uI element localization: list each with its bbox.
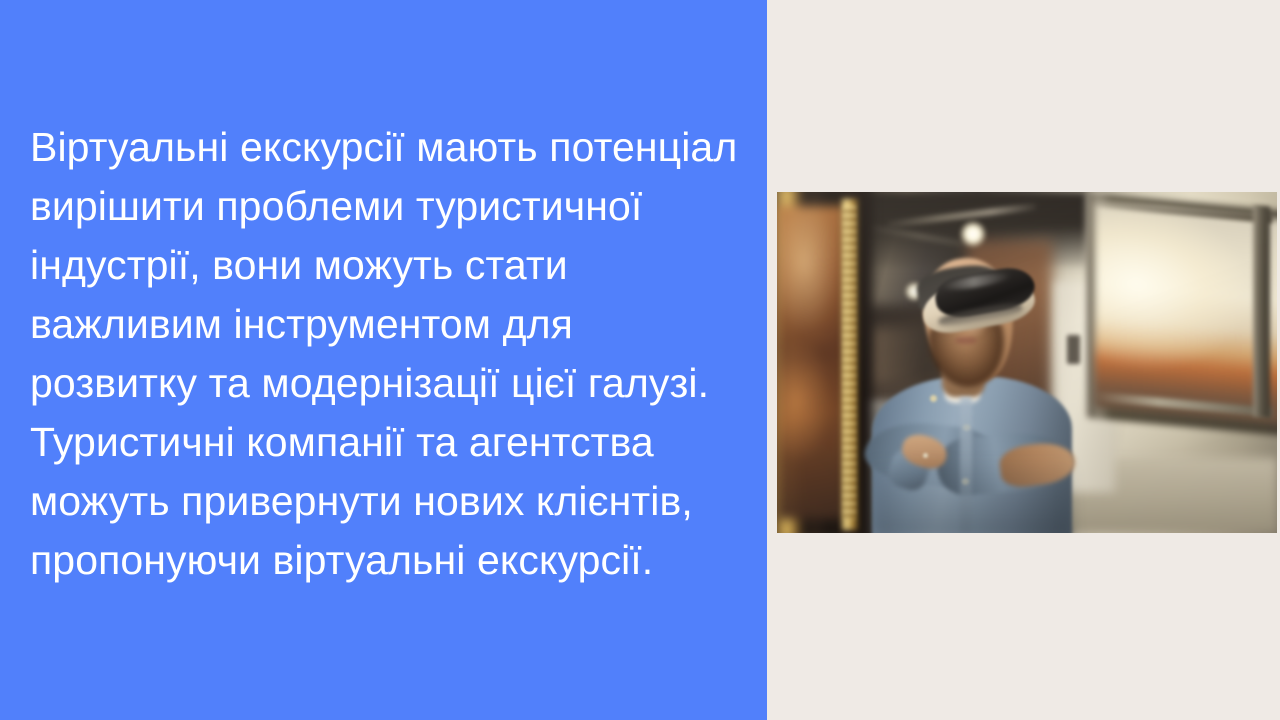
photo-panel [767,0,1280,720]
slide-body-text: Віртуальні екскурсії мають потенціал вир… [0,118,767,590]
photo-man [777,192,1277,533]
text-panel: Віртуальні екскурсії мають потенціал вир… [0,0,767,720]
photo-shirt-shadow [872,458,1072,533]
slide: Віртуальні екскурсії мають потенціал вир… [0,0,1280,720]
photo-shirt-collar-button [930,395,937,402]
vr-gallery-photo [777,192,1277,533]
